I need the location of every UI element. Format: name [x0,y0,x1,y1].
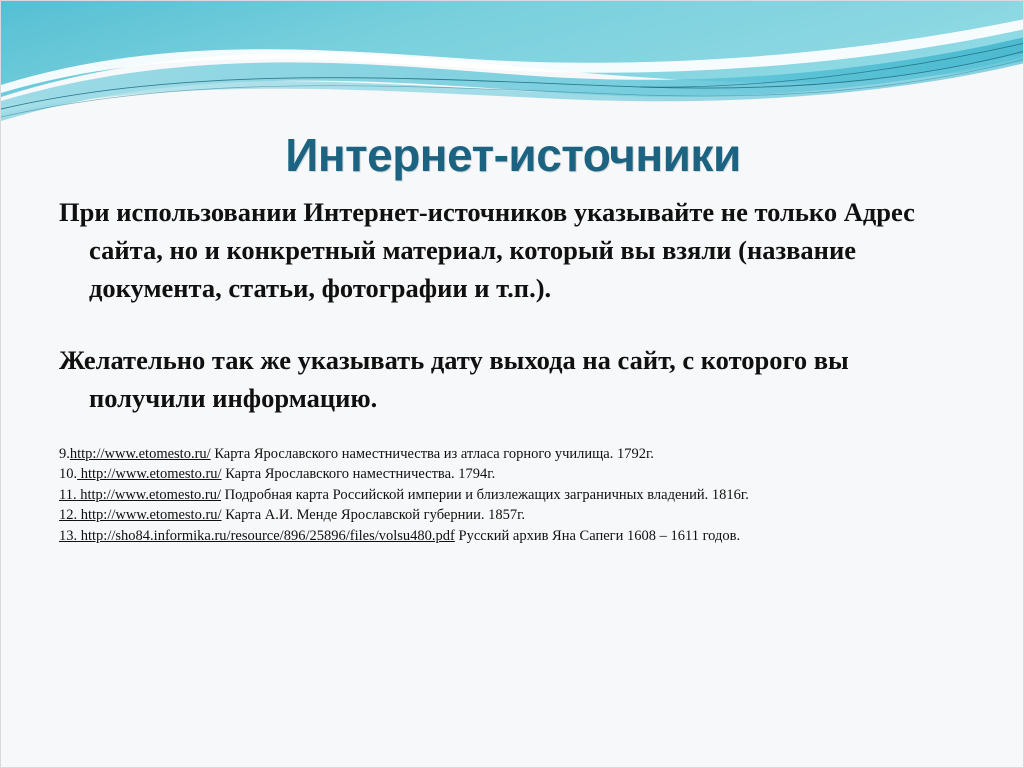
source-description: Подробная карта Российской империи и бли… [221,487,749,503]
swoosh-highlight [1,19,1024,93]
source-description: Русский архив Яна Сапеги 1608 – 1611 год… [455,528,740,544]
source-number: 12. [59,507,77,523]
page-title: Интернет-источники [1,128,1024,182]
source-number: 11. [59,487,77,503]
source-number: 10. [59,466,77,482]
source-url-link[interactable]: http://www.etomesto.ru/ [77,466,221,482]
list-item: 13. http://sho84.informika.ru/resource/8… [59,526,979,546]
source-number: 13. [59,528,77,544]
header-swoosh-decoration [1,1,1024,121]
source-url-link[interactable]: http://www.etomesto.ru/ [70,446,211,462]
swoosh-hairline-2 [1,59,1024,117]
body-paragraph-1: При использовании Интернет-источников ук… [59,193,959,307]
swoosh-hairline-3 [641,43,1024,87]
list-item: 11. http://www.etomesto.ru/ Подробная ка… [59,485,979,505]
swoosh-band-lower [1,53,1024,113]
source-description: Карта Ярославского наместничества. 1794г… [222,466,496,482]
source-description: Карта Ярославского наместничества из атл… [211,446,654,462]
body-paragraph-2-container: Желательно так же указывать дату выхода … [59,341,959,417]
swoosh-band-main [1,1,1024,97]
source-url-link[interactable]: http://sho84.informika.ru/resource/896/2… [77,528,455,544]
source-number: 9. [59,446,70,462]
body-paragraph-2: Желательно так же указывать дату выхода … [59,341,959,417]
swoosh-hairline-1 [1,51,1024,109]
presentation-slide: Интернет-источники При использовании Инт… [0,0,1024,768]
swoosh-band-secondary [1,37,1024,121]
source-description: Карта А.И. Менде Ярославской губернии. 1… [222,507,525,523]
list-item: 10. http://www.etomesto.ru/ Карта Яросла… [59,464,979,484]
list-item: 12. http://www.etomesto.ru/ Карта А.И. М… [59,505,979,525]
source-reference-list: 9.http://www.etomesto.ru/ Карта Ярославс… [59,444,979,546]
list-item: 9.http://www.etomesto.ru/ Карта Ярославс… [59,444,979,464]
source-url-link[interactable]: http://www.etomesto.ru/ [77,507,221,523]
source-url-link[interactable]: http://www.etomesto.ru/ [77,487,221,503]
body-paragraph-1-container: При использовании Интернет-источников ук… [59,193,959,307]
